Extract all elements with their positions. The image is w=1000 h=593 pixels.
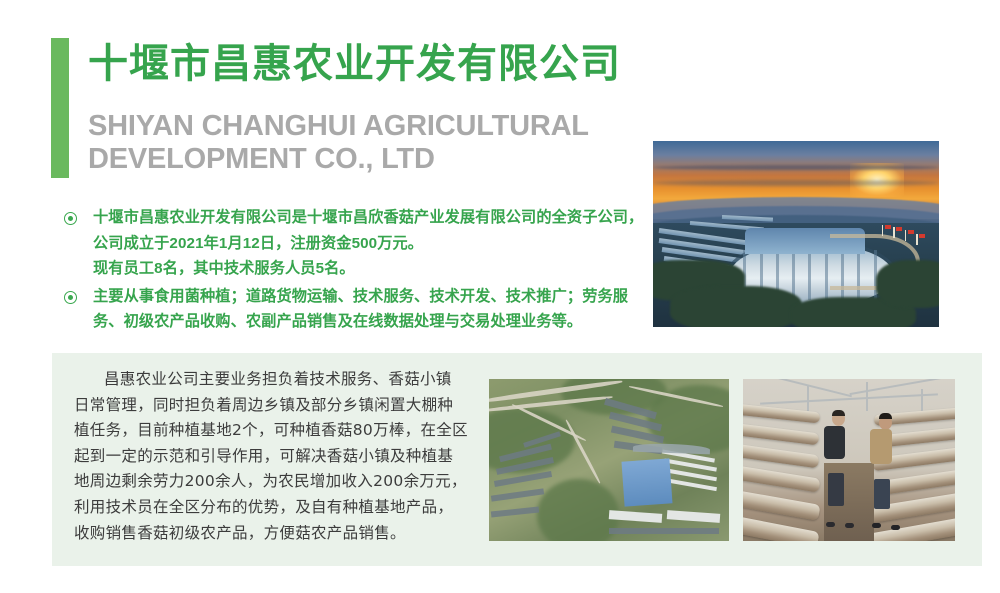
arena-stripe — [792, 250, 795, 301]
summary-paragraph: 昌惠农业公司主要业务担负着技术服务、香菇小镇 日常管理，同时担负着周边乡镇及部分… — [74, 367, 474, 546]
person-hair — [879, 413, 892, 419]
list-item-line: 现有员工8名，其中技术服务人员5名。 — [93, 256, 644, 282]
person-hair — [832, 410, 845, 416]
company-header: 十堰市昌惠农业开发有限公司 SHIYAN CHANGHUI AGRICULTUR… — [51, 38, 651, 183]
list-item: 主要从事食用菌种植；道路货物运输、技术服务、技术开发、技术推广；劳务服 务、初级… — [64, 284, 644, 335]
vegetation — [876, 260, 939, 308]
sunset-aerial-photo — [653, 141, 939, 327]
arena-stripe — [808, 250, 811, 301]
person-legs — [874, 479, 890, 509]
person-shoe — [826, 522, 835, 527]
page-title: 十堰市昌惠农业开发有限公司 — [88, 38, 621, 90]
paragraph-line: 昌惠农业公司主要业务担负着技术服务、香菇小镇 — [74, 367, 474, 393]
person-shoe — [845, 523, 854, 528]
hill — [537, 479, 619, 541]
paragraph-line: 利用技术员在全区分布的优势，及自有种植基地产品， — [74, 495, 474, 521]
list-item-line: 主要从事食用菌种植；道路货物运输、技术服务、技术开发、技术推广；劳务服 — [93, 284, 644, 310]
accent-bar — [51, 38, 69, 178]
red-flag-icon — [885, 225, 891, 229]
person-shoe — [891, 525, 900, 530]
page-subtitle: SHIYAN CHANGHUI AGRICULTURAL DEVELOPMENT… — [88, 110, 658, 176]
paragraph-line: 起到一定的示范和引导作用，可解决香菇小镇及种植基 — [74, 444, 474, 470]
poster-page: 十堰市昌惠农业开发有限公司 SHIYAN CHANGHUI AGRICULTUR… — [0, 0, 1000, 593]
roof-post — [866, 382, 868, 411]
page-subtitle-line1: SHIYAN CHANGHUI AGRICULTURAL — [88, 110, 658, 143]
vegetation — [670, 286, 802, 327]
flagpole — [916, 234, 918, 245]
town-aerial-photo — [489, 379, 729, 541]
red-flag-icon — [896, 227, 902, 231]
list-item-line: 务、初级农产品收购、农副产品销售及在线数据处理与交易处理业务等。 — [93, 309, 644, 335]
red-flag-icon — [908, 230, 914, 234]
target-bullet-icon — [64, 212, 77, 225]
list-item-line: 公司成立于2021年1月12日，注册资金500万元。 — [93, 231, 644, 257]
paragraph-line: 地周边剩余劳力200余人，为农民增加收入200余万元， — [74, 469, 474, 495]
arena-stripe — [825, 250, 828, 301]
building-row — [609, 528, 719, 534]
paragraph-line: 日常管理，同时担负着周边乡镇及部分乡镇闲置大棚种 — [74, 393, 474, 419]
list-item-text: 十堰市昌惠农业开发有限公司是十堰市昌欣香菇产业发展有限公司的全资子公司， 公司成… — [93, 205, 644, 282]
flagpole — [905, 230, 907, 241]
target-bullet-icon — [64, 291, 77, 304]
paragraph-line: 收购销售香菇初级农产品，方便菇农产品销售。 — [74, 521, 474, 547]
cloud-band — [653, 180, 939, 186]
flagpole — [882, 225, 884, 236]
person-legs — [828, 473, 844, 506]
person-torso — [870, 429, 892, 464]
paragraph-line: 植任务，目前种植基地2个，可种植香菇80万棒，在全区 — [74, 418, 474, 444]
greenhouse-interior-photo — [743, 379, 955, 541]
red-flag-icon — [919, 234, 925, 238]
list-item-text: 主要从事食用菌种植；道路货物运输、技术服务、技术开发、技术推广；劳务服 务、初级… — [93, 284, 644, 335]
roof-post — [807, 385, 809, 411]
page-subtitle-line2: DEVELOPMENT CO., LTD — [88, 143, 658, 176]
list-item: 十堰市昌惠农业开发有限公司是十堰市昌欣香菇产业发展有限公司的全资子公司， 公司成… — [64, 205, 644, 282]
factory-blue-roof — [622, 458, 673, 507]
list-item-line: 十堰市昌惠农业开发有限公司是十堰市昌欣香菇产业发展有限公司的全资子公司， — [93, 205, 644, 231]
person-torso — [824, 426, 845, 459]
company-facts-list: 十堰市昌惠农业开发有限公司是十堰市昌欣香菇产业发展有限公司的全资子公司， 公司成… — [64, 205, 644, 337]
person-shoe — [872, 523, 881, 528]
flagpole — [893, 227, 895, 238]
